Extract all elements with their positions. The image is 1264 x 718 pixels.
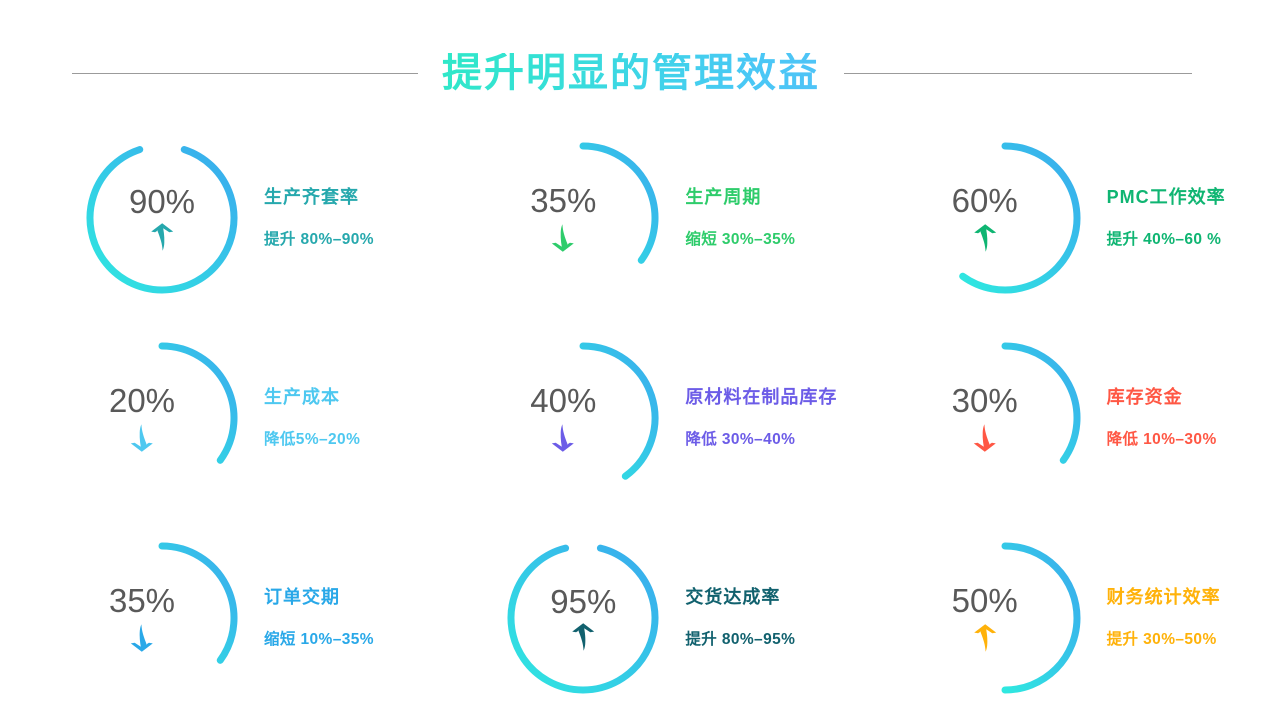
- metric-card-order-lead-time: 35%订单交期缩短 10%–35%: [0, 518, 421, 718]
- metric-subtitle: 提升 40%–60 %: [1107, 232, 1226, 248]
- metric-labels: PMC工作效率提升 40%–60 %: [1107, 188, 1226, 248]
- progress-ring-financial-statistics-efficiency: 50%: [925, 538, 1085, 698]
- metric-subtitle: 提升 30%–50%: [1107, 632, 1221, 648]
- metric-card-production-cycle: 35%生产周期缩短 30%–35%: [421, 118, 842, 318]
- ring-progress-arc: [962, 146, 1076, 290]
- header-rule-left: [72, 73, 418, 74]
- metrics-grid: 90%生产齐套率提升 80%–90%35%生产周期缩短 30%–35%60%PM…: [0, 118, 1264, 718]
- metric-title: 生产齐套率: [264, 188, 374, 206]
- metric-labels: 生产周期缩短 30%–35%: [685, 188, 795, 248]
- ring-arc-svg: [82, 138, 242, 298]
- ring-arc-svg: [82, 338, 242, 498]
- metric-labels: 财务统计效率提升 30%–50%: [1107, 588, 1221, 648]
- metric-labels: 生产成本降低5%–20%: [264, 388, 360, 448]
- metric-labels: 库存资金降低 10%–30%: [1107, 388, 1217, 448]
- progress-ring-production-cost: 20%: [82, 338, 242, 498]
- metric-card-inventory-capital: 30%库存资金降低 10%–30%: [843, 318, 1264, 518]
- metric-title: 生产周期: [685, 188, 795, 206]
- metric-card-delivery-achievement-rate: 95%交货达成率提升 80%–95%: [421, 518, 842, 718]
- ring-arc-svg: [503, 138, 663, 298]
- metric-title: 生产成本: [264, 388, 360, 406]
- ring-progress-arc: [90, 150, 234, 290]
- ring-progress-arc: [511, 548, 655, 690]
- metric-title: 交货达成率: [685, 588, 795, 606]
- metric-labels: 订单交期缩短 10%–35%: [264, 588, 374, 648]
- header-rule-right: [844, 73, 1192, 74]
- progress-ring-raw-material-wip-inventory: 40%: [503, 338, 663, 498]
- progress-ring-delivery-achievement-rate: 95%: [503, 538, 663, 698]
- metric-title: 订单交期: [264, 588, 374, 606]
- metric-subtitle: 提升 80%–95%: [685, 632, 795, 648]
- ring-progress-arc: [583, 346, 655, 476]
- metric-subtitle: 降低 10%–30%: [1107, 432, 1217, 448]
- ring-progress-arc: [1005, 346, 1077, 460]
- metric-labels: 生产齐套率提升 80%–90%: [264, 188, 374, 248]
- metric-subtitle: 降低5%–20%: [264, 432, 360, 448]
- progress-ring-inventory-capital: 30%: [925, 338, 1085, 498]
- page-title: 提升明显的管理效益: [442, 53, 820, 93]
- metric-card-financial-statistics-efficiency: 50%财务统计效率提升 30%–50%: [843, 518, 1264, 718]
- metric-card-raw-material-wip-inventory: 40%原材料在制品库存降低 30%–40%: [421, 318, 842, 518]
- metric-title: 原材料在制品库存: [685, 388, 837, 406]
- progress-ring-pmc-work-efficiency: 60%: [925, 138, 1085, 298]
- ring-progress-arc: [583, 146, 655, 260]
- ring-progress-arc: [162, 346, 234, 460]
- metric-subtitle: 缩短 30%–35%: [685, 232, 795, 248]
- progress-ring-production-cycle: 35%: [503, 138, 663, 298]
- ring-arc-svg: [925, 538, 1085, 698]
- metric-card-production-kitting-rate: 90%生产齐套率提升 80%–90%: [0, 118, 421, 318]
- ring-arc-svg: [82, 538, 242, 698]
- metric-card-pmc-work-efficiency: 60%PMC工作效率提升 40%–60 %: [843, 118, 1264, 318]
- page-header: 提升明显的管理效益: [0, 42, 1264, 104]
- metric-labels: 原材料在制品库存降低 30%–40%: [685, 388, 837, 448]
- progress-ring-order-lead-time: 35%: [82, 538, 242, 698]
- metric-title: 库存资金: [1107, 388, 1217, 406]
- metric-subtitle: 提升 80%–90%: [264, 232, 374, 248]
- ring-arc-svg: [925, 138, 1085, 298]
- metric-subtitle: 缩短 10%–35%: [264, 632, 374, 648]
- ring-arc-svg: [503, 338, 663, 498]
- metric-title: PMC工作效率: [1107, 188, 1226, 206]
- ring-progress-arc: [1005, 546, 1077, 690]
- metric-subtitle: 降低 30%–40%: [685, 432, 837, 448]
- metric-title: 财务统计效率: [1107, 588, 1221, 606]
- metric-labels: 交货达成率提升 80%–95%: [685, 588, 795, 648]
- progress-ring-production-kitting-rate: 90%: [82, 138, 242, 298]
- metric-card-production-cost: 20%生产成本降低5%–20%: [0, 318, 421, 518]
- ring-progress-arc: [162, 546, 234, 660]
- ring-arc-svg: [503, 538, 663, 698]
- ring-arc-svg: [925, 338, 1085, 498]
